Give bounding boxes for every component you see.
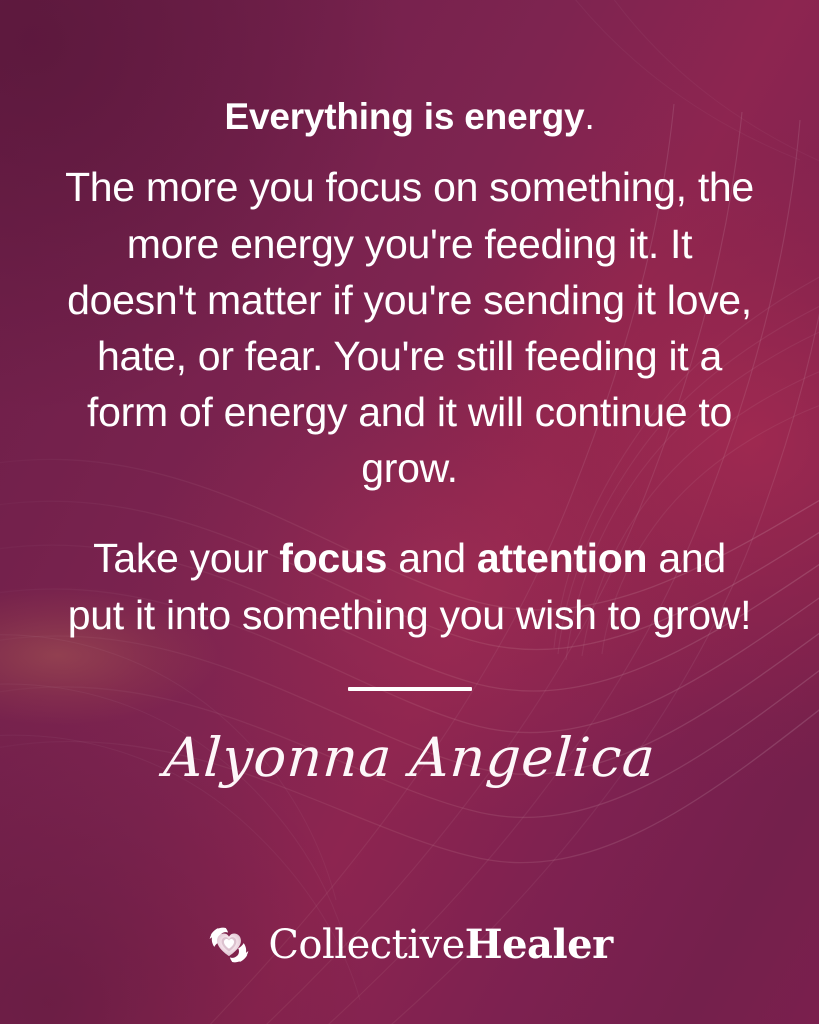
author-signature: Alyonna Angelica [162, 731, 657, 785]
quote-card: Everything is energy. The more you focus… [0, 0, 819, 1024]
brand-word-collective: Collective [268, 922, 464, 968]
brand-word-healer: Healer [465, 921, 613, 968]
quote-p2-emphasis-attention: attention [477, 535, 647, 581]
hands-heart-icon [206, 922, 252, 968]
headline-text: Everything is energy [224, 96, 584, 137]
card-content: Everything is energy. The more you focus… [0, 0, 819, 1024]
quote-p2-part-a: Take your [93, 535, 279, 581]
quote-paragraph-2: Take your focus and attention and put it… [15, 530, 805, 642]
quote-paragraph-1: The more you focus on something, the mor… [15, 159, 805, 496]
quote-p2-part-b: and [387, 535, 477, 581]
brand-logo[interactable]: CollectiveHealer [0, 922, 819, 968]
headline-period: . [584, 96, 594, 137]
divider [348, 687, 472, 691]
page-title: Everything is energy. [184, 96, 634, 137]
brand-wordmark: CollectiveHealer [268, 925, 612, 965]
quote-p2-emphasis-focus: focus [279, 535, 387, 581]
